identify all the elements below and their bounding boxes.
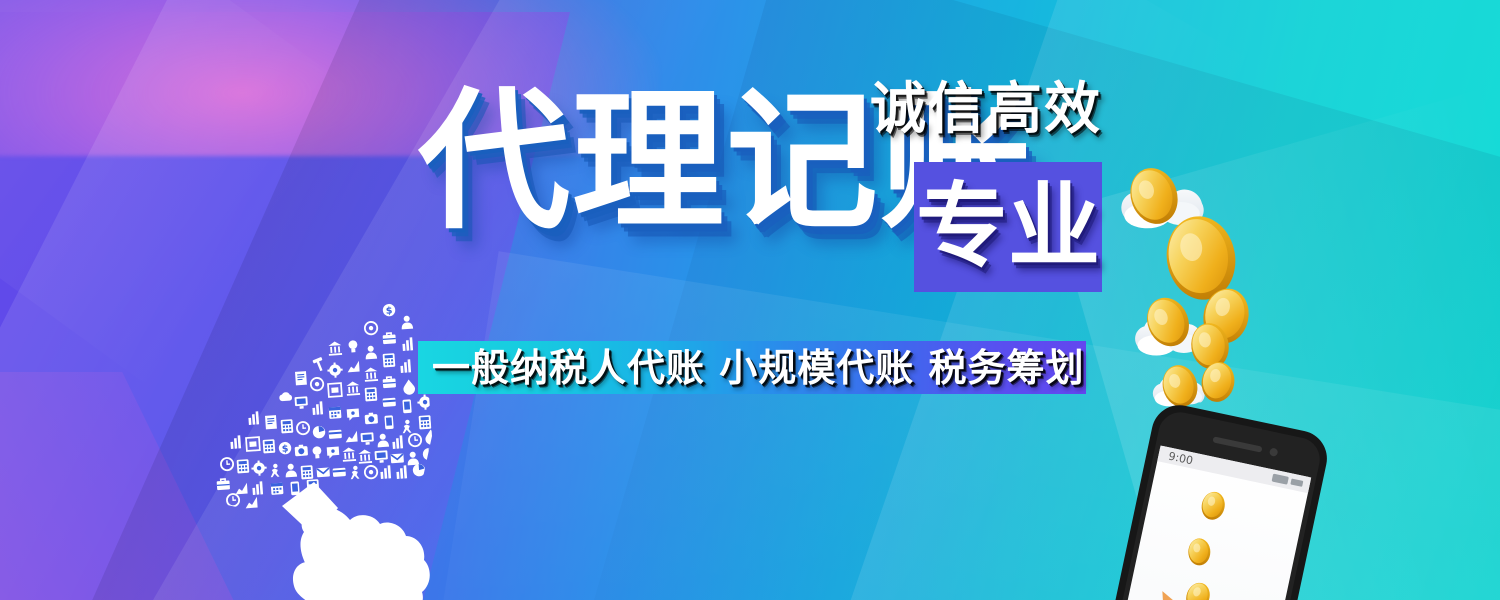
services-bar-label: 一般纳税人代账 小规模代账 税务筹划: [418, 349, 1084, 387]
services-bar: 一般纳税人代账 小规模代账 税务筹划: [418, 341, 1086, 394]
tagline-trust-efficiency: 诚信高效: [870, 82, 1102, 138]
phone-piggybank-illustration: 9:00: [1098, 138, 1398, 600]
badge-professional-label: 专业: [916, 181, 1100, 273]
badge-professional: 专业: [914, 162, 1102, 292]
promo-banner: $: [0, 0, 1500, 600]
smartphone: 9:00: [1098, 400, 1332, 600]
